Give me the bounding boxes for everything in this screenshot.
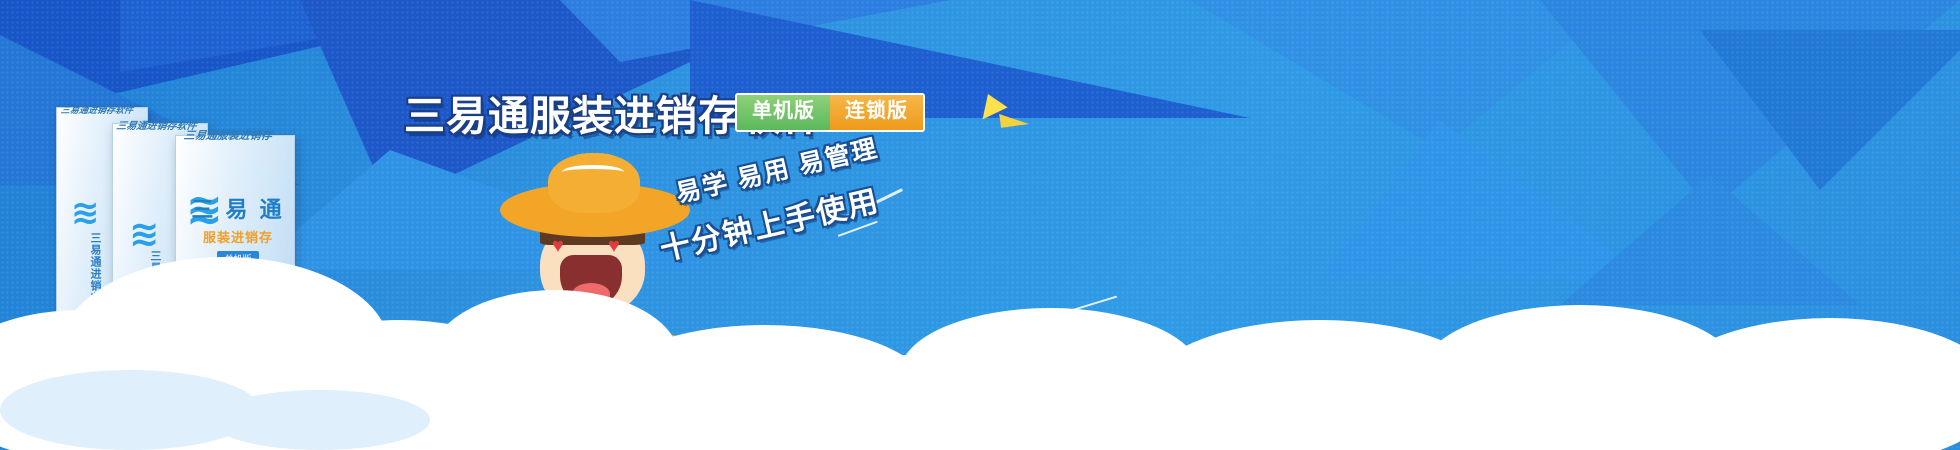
mascot-hat-highlight	[562, 165, 624, 179]
cloud-shade-2	[210, 390, 430, 450]
brand-swoosh-icon: ≋	[71, 196, 100, 230]
bg-shard-10	[1700, 30, 1960, 190]
paper-plane-shadow-icon	[999, 110, 1029, 128]
mascot-hat-crown	[548, 153, 640, 213]
cloud-band	[0, 240, 1960, 450]
promo-banner: ≋ 三易通进销存软件 三易通进销存软件 ≋ 三易通进销存软件 三易通进销存软件 …	[0, 0, 1960, 450]
badge-standalone[interactable]: 单机版	[737, 95, 830, 130]
box-brand-name: 三 易 通	[188, 192, 288, 224]
box-top-label: 三易通进销存软件	[59, 103, 137, 116]
box-top-label: 三易通服装进销存	[182, 127, 276, 143]
